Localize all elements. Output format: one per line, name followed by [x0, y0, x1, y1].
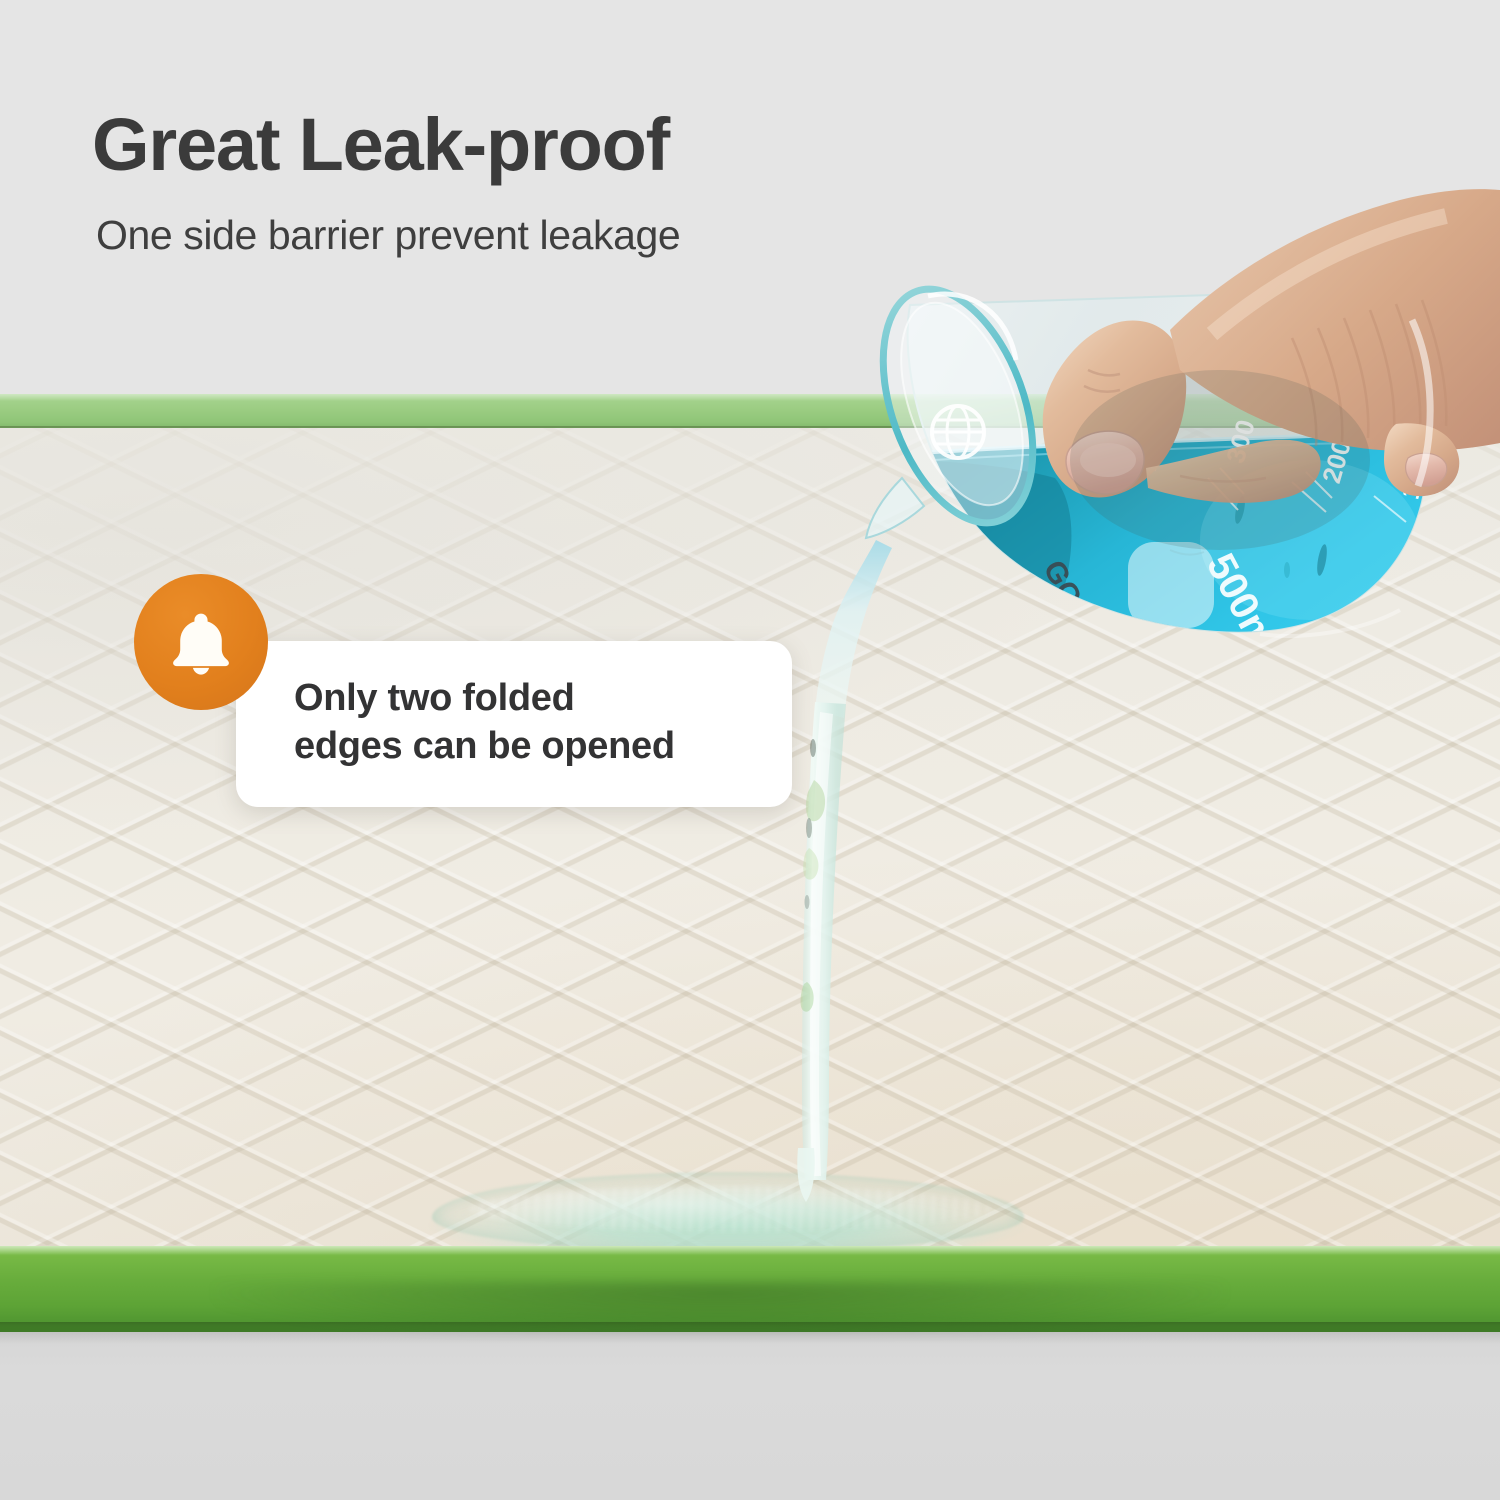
floor-surface	[0, 1326, 1500, 1500]
callout-line-1: Only two folded	[294, 674, 774, 722]
callout-card: Only two folded edges can be opened	[236, 641, 792, 807]
barrier-edge-front-highlight	[0, 1246, 1500, 1255]
bell-icon	[166, 607, 236, 677]
page-title: Great Leak-proof	[92, 108, 669, 182]
liquid-puddle-sheen	[470, 1186, 990, 1232]
barrier-edge-front-base-shadow	[0, 1322, 1500, 1332]
product-feature-image: Great Leak-proof One side barrier preven…	[0, 0, 1500, 1500]
callout-text: Only two folded edges can be opened	[294, 674, 774, 771]
bell-badge	[134, 574, 268, 710]
page-subtitle: One side barrier prevent leakage	[96, 212, 680, 259]
beaker-and-hand: 500 APPROX 300 200 100	[840, 210, 1500, 730]
callout-line-2: edges can be opened	[294, 722, 774, 770]
